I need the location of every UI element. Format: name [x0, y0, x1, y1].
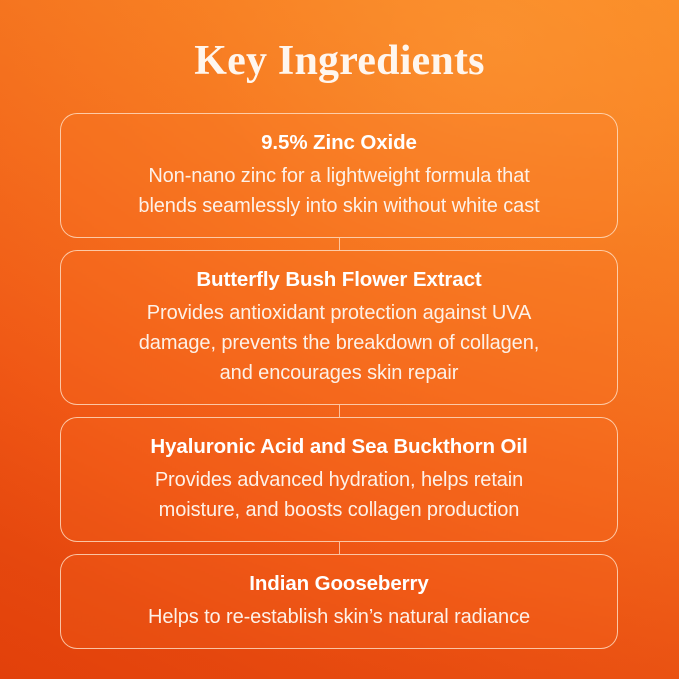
card-connector-line [339, 238, 340, 250]
page-title: Key Ingredients [0, 35, 679, 87]
description-line: Non-nano zinc for a lightweight formula … [87, 161, 591, 191]
ingredient-title: Hyaluronic Acid and Sea Buckthorn Oil [87, 432, 591, 462]
description-line: Provides advanced hydration, helps retai… [87, 465, 591, 495]
ingredient-card-butterfly-bush-flower-extract: Butterfly Bush Flower Extract Provides a… [60, 250, 618, 405]
description-line: and encourages skin repair [87, 358, 591, 388]
ingredient-description: Helps to re-establish skin’s natural rad… [87, 602, 591, 632]
card-connector-line [339, 405, 340, 417]
description-line: damage, prevents the breakdown of collag… [87, 328, 591, 358]
card-connector-line [339, 542, 340, 554]
description-line: Provides antioxidant protection against … [87, 298, 591, 328]
ingredient-description: Provides advanced hydration, helps retai… [87, 465, 591, 525]
ingredient-description: Non-nano zinc for a lightweight formula … [87, 161, 591, 221]
ingredient-title: Butterfly Bush Flower Extract [87, 265, 591, 295]
ingredient-title: Indian Gooseberry [87, 569, 591, 599]
ingredient-card-hyaluronic-acid-sea-buckthorn-oil: Hyaluronic Acid and Sea Buckthorn Oil Pr… [60, 417, 618, 542]
description-line: moisture, and boosts collagen production [87, 495, 591, 525]
key-ingredients-infographic: Key Ingredients 9.5% Zinc Oxide Non-nano… [0, 0, 679, 679]
ingredient-description: Provides antioxidant protection against … [87, 298, 591, 388]
description-line: blends seamlessly into skin without whit… [87, 191, 591, 221]
ingredient-card-indian-gooseberry: Indian Gooseberry Helps to re-establish … [60, 554, 618, 649]
ingredient-card-zinc-oxide: 9.5% Zinc Oxide Non-nano zinc for a ligh… [60, 113, 618, 238]
description-line: Helps to re-establish skin’s natural rad… [87, 602, 591, 632]
ingredient-title: 9.5% Zinc Oxide [87, 128, 591, 158]
ingredient-card-list: 9.5% Zinc Oxide Non-nano zinc for a ligh… [60, 113, 618, 649]
